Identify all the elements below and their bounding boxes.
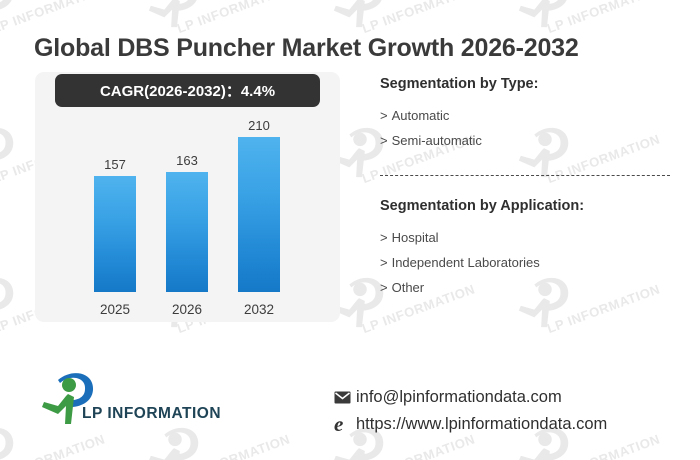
segmentation-by-application-section: Segmentation by Application: >Hospital >… [380, 198, 680, 305]
page-title: Global DBS Puncher Market Growth 2026-20… [34, 34, 579, 63]
watermark-figure-icon [145, 420, 205, 460]
bar-group: 2102032 [236, 137, 282, 292]
watermark-figure-icon [0, 0, 20, 30]
contact-website-row: e https://www.lpinformationdata.com [334, 411, 607, 438]
watermark-figure-icon [515, 0, 575, 30]
watermark-text: LP INFORMATION [545, 0, 662, 36]
bar-value-label: 157 [92, 157, 138, 172]
bar-chart: 157202516320262102032 [35, 72, 340, 322]
segmentation-application-heading: Segmentation by Application: [380, 198, 680, 214]
caret-icon: > [380, 133, 388, 148]
watermark-figure-icon [0, 270, 20, 330]
logo-wordmark: LP INFORMATION [82, 405, 221, 423]
bar[interactable] [238, 137, 280, 292]
bar-value-label: 163 [164, 153, 210, 168]
cagr-badge: CAGR(2026-2032)：4.4% [55, 74, 320, 107]
envelope-icon [334, 391, 356, 404]
watermark-text: LP INFORMATION [0, 431, 107, 460]
bar-group: 1632026 [164, 172, 210, 292]
watermark-figure-icon [0, 120, 20, 180]
bar[interactable] [166, 172, 208, 292]
bar[interactable] [94, 176, 136, 292]
segmentation-type-item-0: Automatic [392, 108, 450, 123]
caret-icon: > [380, 108, 388, 123]
list-item: >Automatic [380, 108, 680, 123]
segmentation-type-heading: Segmentation by Type: [380, 76, 680, 92]
watermark-figure-icon [145, 0, 205, 30]
watermark-figure-icon [0, 420, 20, 460]
bar-group: 1572025 [92, 176, 138, 292]
segmentation-type-item-1: Semi-automatic [392, 133, 482, 148]
contact-email-row: info@lpinformationdata.com [334, 384, 607, 411]
segmentation-application-item-2: Other [392, 280, 425, 295]
list-item: >Semi-automatic [380, 133, 680, 148]
bar-category-label: 2032 [234, 302, 284, 317]
caret-icon: > [380, 230, 388, 245]
list-item: >Independent Laboratories [380, 255, 680, 270]
list-item: >Hospital [380, 230, 680, 245]
caret-icon: > [380, 255, 388, 270]
contact-info: info@lpinformationdata.com e https://www… [334, 384, 607, 438]
bar-category-label: 2026 [162, 302, 212, 317]
watermark-text: LP INFORMATION [360, 0, 477, 36]
watermark-figure-icon [330, 0, 390, 30]
watermark-text: LP INFORMATION [175, 431, 292, 460]
segmentation-application-item-0: Hospital [392, 230, 439, 245]
watermark-text: LP INFORMATION [175, 0, 292, 36]
internet-explorer-e-icon: e [334, 414, 356, 435]
section-divider [380, 175, 670, 176]
watermark-text: LP INFORMATION [0, 0, 107, 36]
list-item: >Other [380, 280, 680, 295]
company-logo: LP INFORMATION [38, 366, 221, 426]
caret-icon: > [380, 280, 388, 295]
bar-category-label: 2025 [90, 302, 140, 317]
segmentation-by-type-section: Segmentation by Type: >Automatic >Semi-a… [380, 76, 680, 158]
segmentation-application-item-1: Independent Laboratories [392, 255, 540, 270]
website-url[interactable]: https://www.lpinformationdata.com [356, 415, 607, 434]
bar-value-label: 210 [236, 118, 282, 133]
email-address[interactable]: info@lpinformationdata.com [356, 388, 562, 407]
